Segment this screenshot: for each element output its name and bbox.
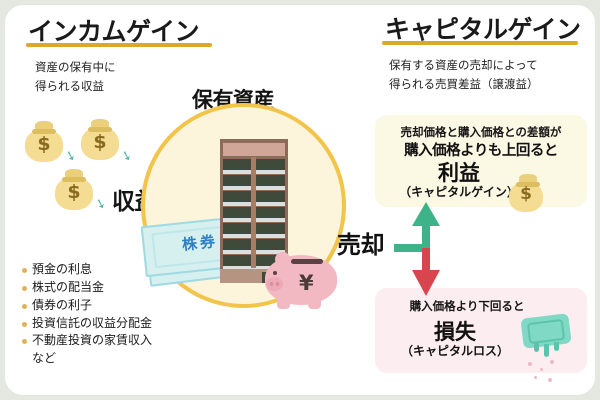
profit-card: 売却価格と購入価格との差額が 購入価格よりも上回ると 利益 （キャピタルゲイン） bbox=[375, 115, 587, 207]
money-bag-icon: $ bbox=[54, 168, 94, 210]
infographic-root: インカムゲイン 資産の保有中に 得られる収益 $ $ $ ➘ ➘ ➘ 収益 預金… bbox=[0, 0, 600, 400]
list-item: など bbox=[22, 351, 152, 366]
capital-description: 保有する資産の売却によって 得られる売買差益（譲渡益） bbox=[389, 56, 539, 93]
list-item: 預金の利息 bbox=[22, 262, 152, 277]
bullet-dot-icon bbox=[22, 339, 27, 344]
bullet-dot-icon bbox=[22, 322, 27, 327]
held-asset-illustration: 株券 ¥ bbox=[141, 103, 346, 308]
list-item: 債券の利子 bbox=[22, 298, 152, 313]
money-bag-icon: $ bbox=[80, 118, 120, 160]
sale-label: 売却 bbox=[337, 225, 384, 260]
money-bag-symbol: $ bbox=[54, 183, 94, 202]
money-bag-icon: $ bbox=[24, 120, 64, 162]
piggy-bank-symbol: ¥ bbox=[299, 273, 314, 294]
bullet-dot-icon bbox=[22, 286, 27, 291]
profit-line-1: 売却価格と購入価格との差額が bbox=[375, 124, 587, 140]
bullet-dot-icon bbox=[22, 304, 27, 309]
bullet-dot-icon bbox=[22, 268, 27, 273]
list-item: 不動産投資の家賃収入 bbox=[22, 333, 152, 348]
income-examples-list: 預金の利息 株式の配当金 債券の利子 投資信託の収益分配金 不動産投資の家賃収入… bbox=[22, 262, 152, 369]
money-bag-symbol: $ bbox=[24, 135, 64, 154]
income-description: 資産の保有中に 得られる収益 bbox=[35, 58, 116, 95]
money-bag-symbol: $ bbox=[508, 186, 544, 203]
income-title-underline bbox=[26, 43, 212, 47]
list-item: 投資信託の収益分配金 bbox=[22, 316, 152, 331]
loss-card: 購入価格より下回ると 損失 （キャピタルロス） bbox=[375, 288, 587, 373]
loss-line-1: 購入価格より下回ると bbox=[361, 298, 573, 314]
capital-title-underline bbox=[382, 41, 578, 45]
list-item: 株式の配当金 bbox=[22, 280, 152, 295]
money-bag-icon: $ bbox=[508, 173, 544, 211]
piggy-bank-icon: ¥ bbox=[263, 253, 341, 311]
branching-arrow-icon bbox=[392, 200, 462, 300]
melting-money-icon bbox=[520, 314, 572, 364]
money-bag-symbol: $ bbox=[80, 133, 120, 152]
bullet-spacer bbox=[22, 357, 27, 362]
